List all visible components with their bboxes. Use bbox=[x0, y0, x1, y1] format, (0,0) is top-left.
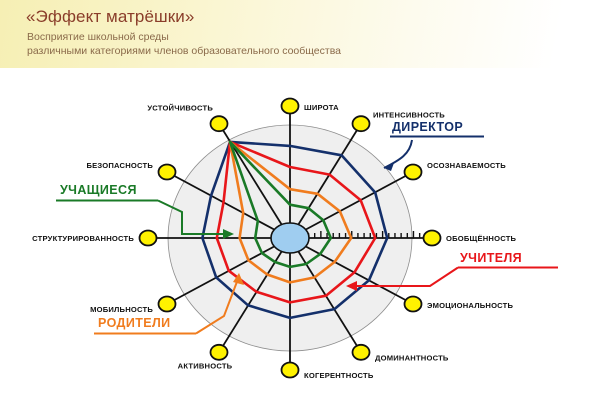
legend-label-parents: РОДИТЕЛИ bbox=[98, 316, 171, 330]
legend-label-students: УЧАЩИЕСЯ bbox=[60, 183, 137, 197]
axis-label-мобильность: МОБИЛЬНОСТЬ bbox=[90, 305, 153, 314]
legend-arrow-line-director bbox=[384, 140, 412, 168]
axis-node-активность[interactable] bbox=[211, 345, 228, 360]
axis-label-обобщённость: ОБОБЩЁННОСТЬ bbox=[446, 234, 517, 243]
axis-node-когерентность[interactable] bbox=[282, 363, 299, 378]
axis-label-эмоциональность: ЭМОЦИОНАЛЬНОСТЬ bbox=[427, 301, 514, 310]
page-title: «Эффект матрёшки» bbox=[26, 7, 194, 27]
axis-node-устойчивость[interactable] bbox=[211, 116, 228, 131]
axis-label-когерентность: КОГЕРЕНТНОСТЬ bbox=[304, 371, 374, 380]
center-hub bbox=[271, 223, 309, 253]
axis-label-широта: ШИРОТА bbox=[304, 103, 339, 112]
header-band: «Эффект матрёшки» Восприятие школьной ср… bbox=[0, 0, 602, 68]
axis-node-доминантность[interactable] bbox=[353, 345, 370, 360]
axis-node-широта[interactable] bbox=[282, 99, 299, 114]
axis-node-эмоциональность[interactable] bbox=[405, 297, 422, 312]
axis-node-интенсивность[interactable] bbox=[353, 116, 370, 131]
subtitle-line-2: различными категориями членов образовате… bbox=[27, 45, 341, 57]
legend-label-teachers: УЧИТЕЛЯ bbox=[460, 251, 522, 265]
slide-canvas: «Эффект матрёшки» Восприятие школьной ср… bbox=[0, 0, 602, 416]
axis-node-обобщённость[interactable] bbox=[424, 231, 441, 246]
radar-chart: ШИРОТАИНТЕНСИВНОСТЬОСОЗНАВАЕМОСТЬОБОБЩЁН… bbox=[0, 62, 602, 416]
axis-label-интенсивность: ИНТЕНСИВНОСТЬ bbox=[373, 111, 445, 120]
axis-label-доминантность: ДОМИНАНТНОСТЬ bbox=[375, 353, 449, 362]
axis-label-активность: АКТИВНОСТЬ bbox=[178, 361, 233, 370]
subtitle-line-1: Восприятие школьной среды bbox=[27, 31, 169, 43]
axis-label-структурированность: СТРУКТУРИРОВАННОСТЬ bbox=[32, 234, 134, 243]
axis-node-мобильность[interactable] bbox=[159, 297, 176, 312]
axis-node-осознаваемость[interactable] bbox=[405, 165, 422, 180]
axis-node-структурированность[interactable] bbox=[140, 231, 157, 246]
axis-label-устойчивость: УСТОЙЧИВОСТЬ bbox=[147, 104, 213, 113]
axis-label-безопасность: БЕЗОПАСНОСТЬ bbox=[86, 161, 153, 170]
axis-node-безопасность[interactable] bbox=[159, 165, 176, 180]
axis-label-осознаваемость: ОСОЗНАВАЕМОСТЬ bbox=[427, 161, 506, 170]
legend-label-director: ДИРЕКТОР bbox=[392, 120, 463, 134]
